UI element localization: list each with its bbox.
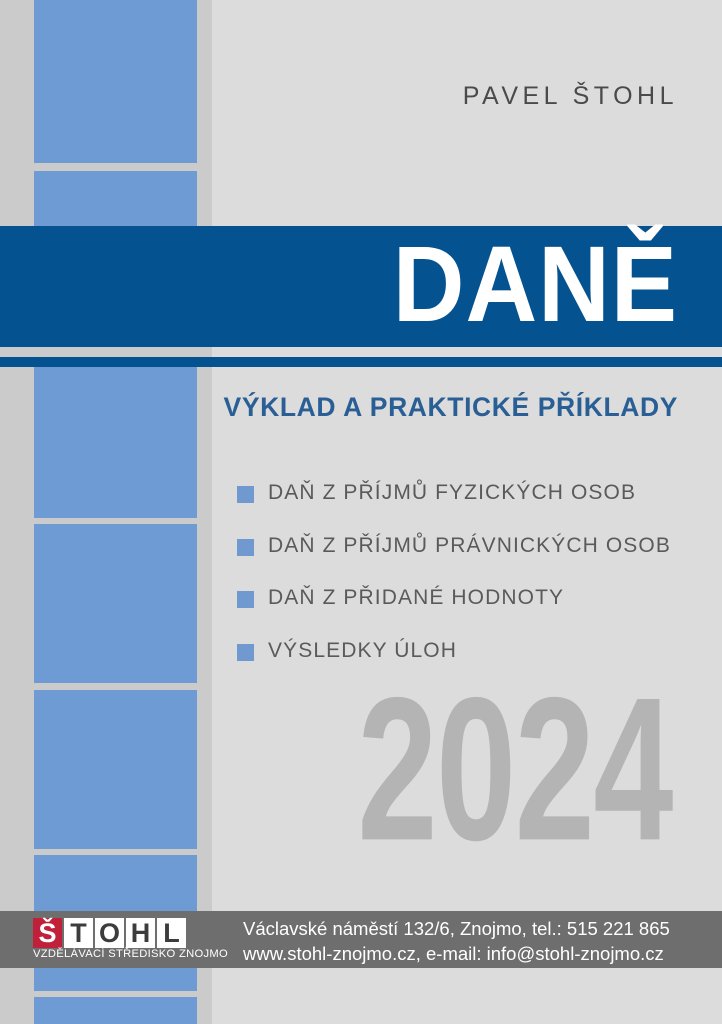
spine-block <box>34 997 197 1024</box>
spine-block <box>34 524 197 683</box>
logo-lettermarks: Š T O H L <box>33 918 186 948</box>
bullet-square-icon <box>237 539 254 556</box>
list-item: DAŇ Z PŘÍJMŮ PRÁVNICKÝCH OSOB <box>237 534 697 587</box>
bullet-square-icon <box>237 486 254 503</box>
bullet-square-icon <box>237 591 254 608</box>
publisher-logo: Š T O H L VZDĚLÁVACÍ STŘEDISKO ZNOJMO <box>33 918 199 963</box>
author-name: PAVEL ŠTOHL <box>0 82 678 111</box>
contact-web: www.stohl-znojmo.cz, e-mail: info@stohl-… <box>243 941 670 966</box>
list-item: DAŇ Z PŘIDANÉ HODNOTY <box>237 586 697 639</box>
publisher-contact: Václavské náměstí 132/6, Znojmo, tel.: 5… <box>243 916 670 966</box>
spine-block <box>34 367 197 518</box>
topic-label: DAŇ Z PŘIDANÉ HODNOTY <box>268 586 564 610</box>
contact-address: Václavské náměstí 132/6, Znojmo, tel.: 5… <box>243 916 670 941</box>
topic-label: DAŇ Z PŘÍJMŮ FYZICKÝCH OSOB <box>268 481 636 505</box>
spine-block <box>34 690 197 849</box>
subtitle: VÝKLAD A PRAKTICKÉ PŘÍKLADY <box>0 392 678 423</box>
logo-tagline: VZDĚLÁVACÍ STŘEDISKO ZNOJMO <box>33 948 199 960</box>
spine-block-column <box>34 0 197 1024</box>
logo-letter-h: H <box>126 918 155 948</box>
logo-letter-s: Š <box>33 918 62 948</box>
logo-letter-t: T <box>64 918 93 948</box>
book-cover: PAVEL ŠTOHL DANĚ VÝKLAD A PRAKTICKÉ PŘÍK… <box>0 0 722 1024</box>
year-watermark: 2024 <box>188 668 672 872</box>
topic-label: DAŇ Z PŘÍJMŮ PRÁVNICKÝCH OSOB <box>268 534 671 558</box>
list-item: DAŇ Z PŘÍJMŮ FYZICKÝCH OSOB <box>237 481 697 534</box>
bullet-square-icon <box>237 644 254 661</box>
page-title: DANĚ <box>54 224 678 344</box>
logo-letter-l: L <box>157 918 186 948</box>
title-rule <box>0 357 722 367</box>
logo-letter-o: O <box>95 918 124 948</box>
